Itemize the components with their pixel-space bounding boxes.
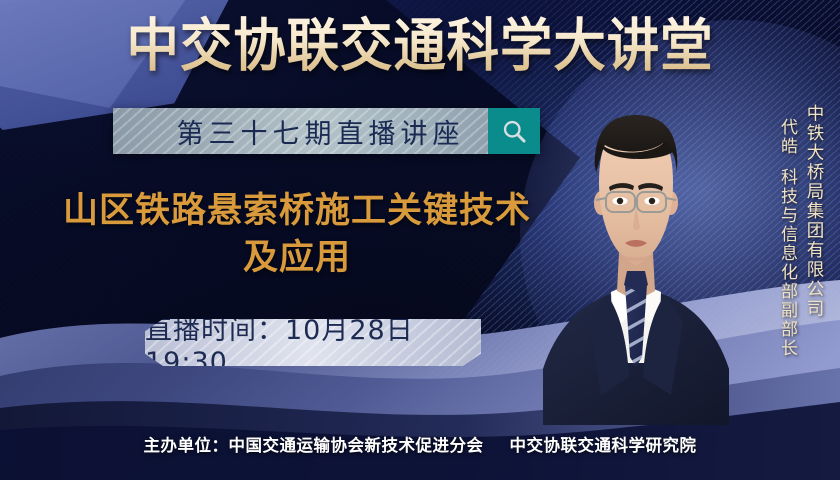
live-time-badge: 直播时间：10月28日19:30 bbox=[145, 319, 481, 366]
live-time-text: 直播时间：10月28日19:30 bbox=[145, 319, 481, 366]
speaker-portrait bbox=[543, 95, 729, 425]
organizer-secondary: 中交协联交通科学研究院 bbox=[510, 436, 697, 455]
lecture-topic: 山区铁路悬索桥施工关键技术 及应用 bbox=[24, 188, 570, 282]
session-label-box: 第三十七期直播讲座 bbox=[113, 108, 488, 154]
search-button[interactable] bbox=[488, 108, 540, 154]
session-bar: 第三十七期直播讲座 bbox=[113, 108, 540, 154]
speaker-name-title: 代皓科技与信息化部副部长 bbox=[776, 104, 797, 358]
speaker-info: 代皓科技与信息化部副部长 中铁大桥局集团有限公司 bbox=[776, 104, 824, 358]
session-label: 第三十七期直播讲座 bbox=[137, 112, 465, 151]
organizer-primary: 主办单位：中国交通运输协会新技术促进分会 bbox=[144, 436, 484, 455]
organizer-footer: 主办单位：中国交通运输协会新技术促进分会中交协联交通科学研究院 bbox=[0, 432, 840, 456]
search-icon bbox=[501, 118, 528, 145]
speaker-organization: 中铁大桥局集团有限公司 bbox=[803, 104, 824, 319]
speaker-title: 科技与信息化部副部长 bbox=[777, 168, 797, 358]
topic-line-2: 及应用 bbox=[24, 235, 570, 282]
page-title: 中交协联交通科学大讲堂 bbox=[34, 14, 807, 78]
lecture-poster: 中交协联交通科学大讲堂 第三十七期直播讲座 山区铁路悬索桥施工关键技术 及应用 … bbox=[0, 0, 840, 480]
speaker-name: 代皓 bbox=[777, 118, 797, 156]
topic-line-1: 山区铁路悬索桥施工关键技术 bbox=[63, 191, 531, 231]
